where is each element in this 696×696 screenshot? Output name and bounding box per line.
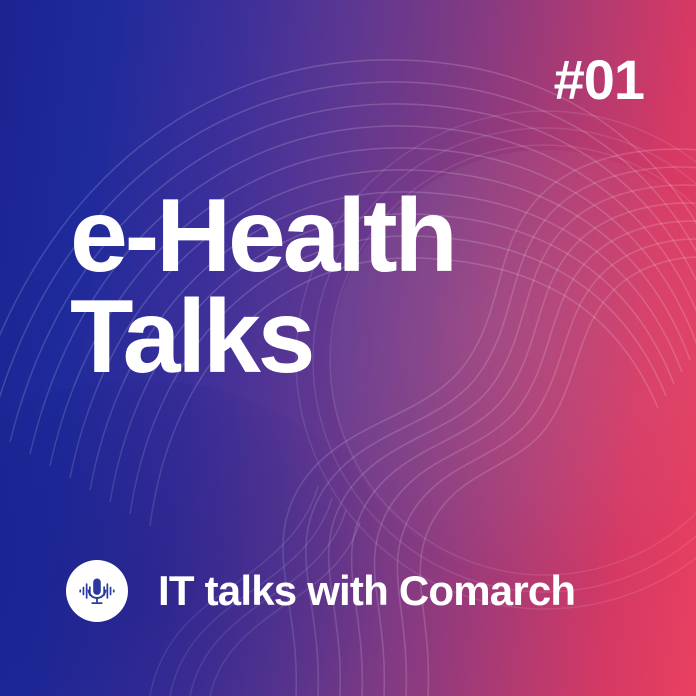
page-title: e-Health Talks	[70, 186, 630, 388]
microphone-badge	[66, 560, 128, 622]
episode-number: #01	[554, 52, 644, 108]
brand-footer-text: IT talks with Comarch	[158, 570, 575, 612]
title-line-2: Talks	[70, 287, 630, 388]
podcast-cover-poster: #01 e-Health Talks	[0, 0, 696, 696]
brand-footer-row: IT talks with Comarch	[66, 560, 575, 622]
shadow-glow-decoration	[0, 380, 400, 696]
title-line-1: e-Health	[70, 186, 630, 287]
microphone-icon	[75, 569, 119, 613]
